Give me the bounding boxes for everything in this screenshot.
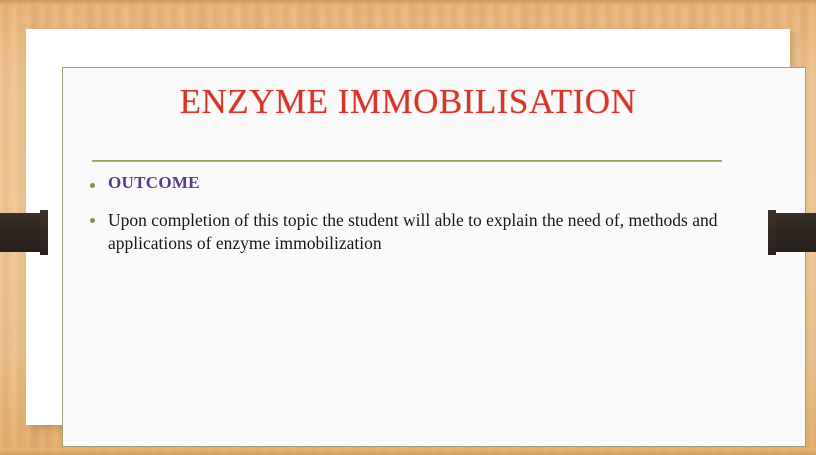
left-side-tab	[0, 213, 48, 252]
bullet-list: OUTCOME Upon completion of this topic th…	[90, 174, 730, 256]
slide-content-frame	[62, 67, 806, 447]
list-item: Upon completion of this topic the studen…	[90, 209, 730, 256]
bullet-dot-icon	[90, 183, 95, 188]
right-side-tab	[768, 213, 816, 252]
list-item: OUTCOME	[90, 174, 730, 193]
bullet-label-description: Upon completion of this topic the studen…	[108, 209, 718, 256]
title-divider	[92, 160, 722, 162]
bullet-label-outcome: OUTCOME	[108, 174, 200, 193]
wood-top-band	[0, 0, 816, 5]
presentation-slide-view: ENZYME IMMOBILISATION OUTCOME Upon compl…	[0, 0, 816, 455]
bullet-dot-icon	[90, 218, 95, 223]
wood-bottom-band	[0, 448, 816, 455]
slide-title: ENZYME IMMOBILISATION	[36, 82, 780, 122]
right-side-tab-cap	[768, 210, 776, 255]
left-side-tab-cap	[40, 210, 48, 255]
